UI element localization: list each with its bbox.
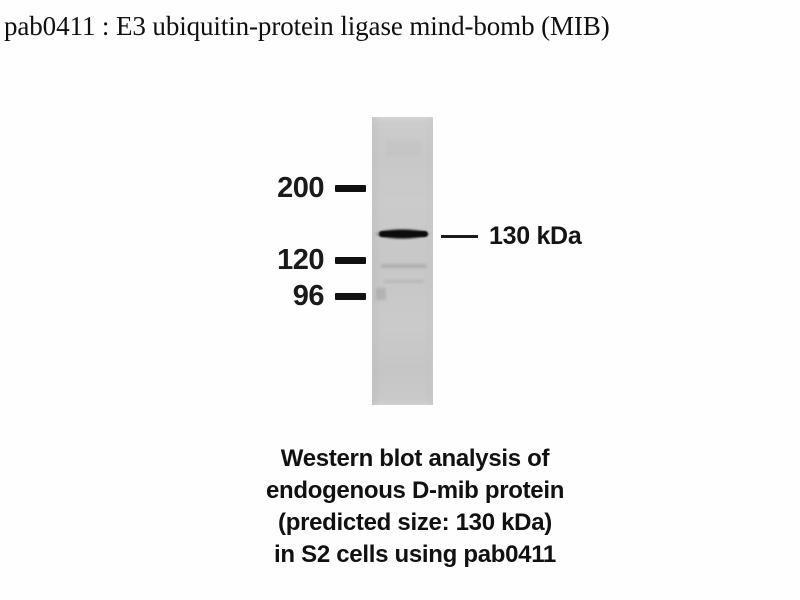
caption-line-4: in S2 cells using pab0411 bbox=[200, 539, 630, 571]
band-annotation: 130 kDa bbox=[441, 222, 581, 250]
annotation-label-130kda: 130 kDa bbox=[489, 222, 581, 250]
caption-line-2: endogenous D-mib protein bbox=[200, 475, 630, 507]
caption-line-3: (predicted size: 130 kDa) bbox=[200, 507, 630, 539]
figure-page: pab0411 : E3 ubiquitin-protein ligase mi… bbox=[0, 0, 800, 600]
figure-caption: Western blot analysis of endogenous D-mi… bbox=[200, 443, 630, 571]
protein-band-core bbox=[379, 231, 428, 237]
mw-marker-200: 200 bbox=[262, 173, 366, 203]
mw-marker-120: 120 bbox=[262, 245, 366, 275]
mw-marker-96-label: 96 bbox=[262, 281, 324, 311]
mw-marker-200-dash-icon bbox=[335, 185, 366, 192]
blot-lane bbox=[372, 117, 433, 405]
caption-line-1: Western blot analysis of bbox=[200, 443, 630, 475]
faint-band-lower-1 bbox=[381, 264, 426, 268]
faint-band-edge-smudge bbox=[376, 288, 386, 300]
mw-marker-96: 96 bbox=[262, 281, 366, 311]
mw-marker-96-dash-icon bbox=[335, 293, 366, 300]
mw-marker-200-label: 200 bbox=[262, 173, 324, 203]
faint-band-lower-2 bbox=[384, 280, 424, 283]
annotation-pointer-dash-icon bbox=[441, 235, 478, 238]
faint-band-artifact-top bbox=[386, 140, 421, 156]
mw-marker-120-label: 120 bbox=[262, 245, 324, 275]
mw-marker-120-dash-icon bbox=[335, 257, 366, 264]
